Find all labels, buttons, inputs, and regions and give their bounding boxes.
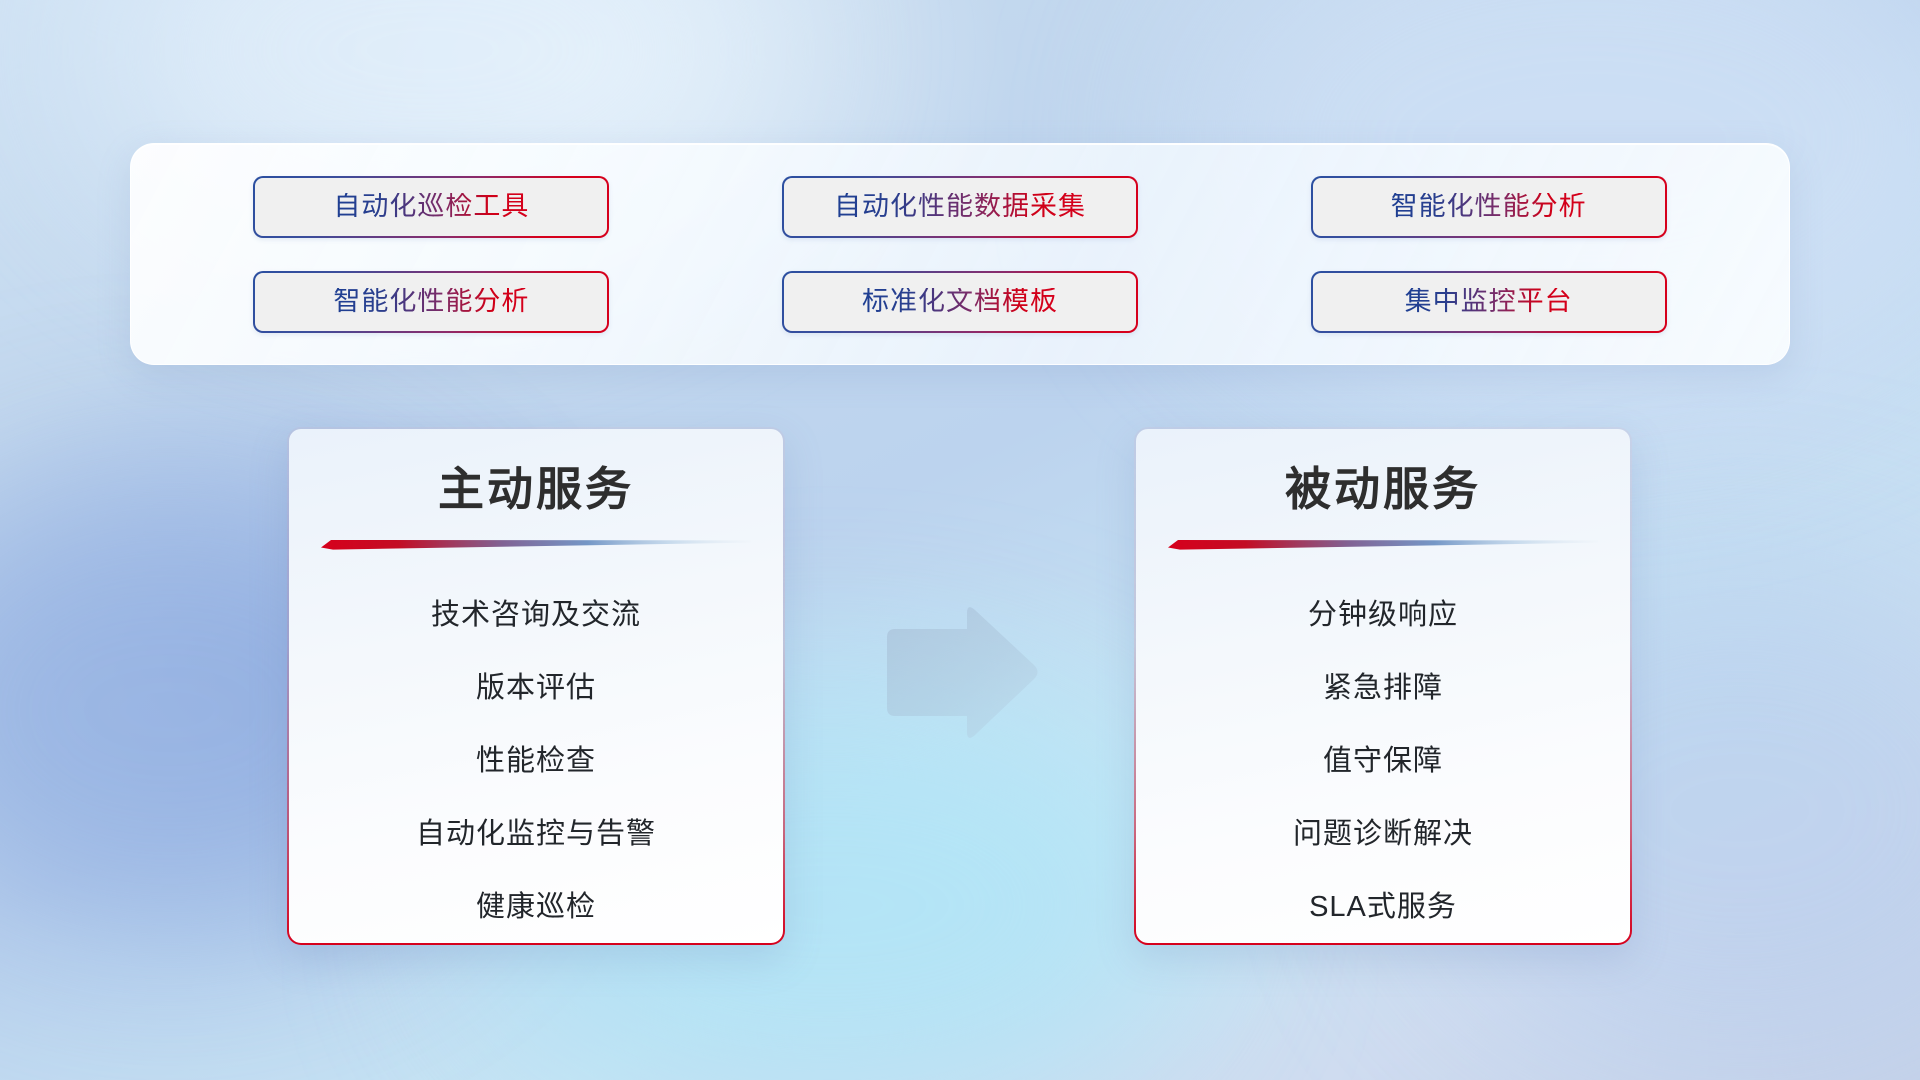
service-card-proactive: 主动服务 技术咨询及交流 版本评估 性能检查 bbox=[287, 427, 785, 945]
service-list-item: 紧急排障 bbox=[1323, 649, 1443, 722]
capability-tag[interactable]: 智能化性能分析 bbox=[253, 271, 609, 333]
capability-tag[interactable]: 集中监控平台 bbox=[1311, 271, 1667, 333]
capability-tag[interactable]: 智能化性能分析 bbox=[1311, 176, 1667, 238]
capability-tag-label: 集中监控平台 bbox=[1405, 288, 1573, 315]
capability-tag-label: 智能化性能分析 bbox=[333, 288, 529, 315]
service-card-reactive: 被动服务 分钟级响应 紧急排障 值守保障 bbox=[1134, 427, 1632, 945]
capability-tag[interactable]: 自动化性能数据采集 bbox=[782, 176, 1138, 238]
slide-canvas: 自动化巡检工具 自动化性能数据采集 智能化性能分析 智能化性能分析 标准化文档模… bbox=[0, 0, 1920, 1080]
capability-tag-label: 自动化巡检工具 bbox=[333, 193, 529, 220]
capability-panel: 自动化巡检工具 自动化性能数据采集 智能化性能分析 智能化性能分析 标准化文档模… bbox=[130, 143, 1790, 365]
service-list-item: 分钟级响应 bbox=[1308, 576, 1458, 649]
service-list-item: 版本评估 bbox=[476, 649, 596, 722]
card-title: 被动服务 bbox=[1285, 463, 1481, 516]
service-list-item: SLA式服务 bbox=[1309, 868, 1457, 941]
capability-tag[interactable]: 自动化巡检工具 bbox=[253, 176, 609, 238]
service-list-item: 问题诊断解决 bbox=[1293, 795, 1473, 868]
service-list-item: 技术咨询及交流 bbox=[431, 576, 641, 649]
capability-tag[interactable]: 标准化文档模板 bbox=[782, 271, 1138, 333]
service-list-item: 健康巡检 bbox=[476, 868, 596, 941]
service-list-item: 性能检查 bbox=[476, 722, 596, 795]
card-title-divider bbox=[321, 538, 751, 550]
service-list-item: 值守保障 bbox=[1323, 722, 1443, 795]
capability-tag-label: 智能化性能分析 bbox=[1391, 193, 1587, 220]
capability-tag-label: 自动化性能数据采集 bbox=[834, 193, 1086, 220]
arrow-right-icon bbox=[881, 601, 1041, 745]
card-title-divider bbox=[1168, 538, 1598, 550]
capability-tag-label: 标准化文档模板 bbox=[862, 288, 1058, 315]
service-item-list: 技术咨询及交流 版本评估 性能检查 自动化监控与告警 健康巡检 bbox=[289, 576, 783, 941]
card-title: 主动服务 bbox=[438, 463, 634, 516]
service-list-item: 自动化监控与告警 bbox=[416, 795, 656, 868]
service-item-list: 分钟级响应 紧急排障 值守保障 问题诊断解决 SLA式服务 bbox=[1136, 576, 1630, 941]
